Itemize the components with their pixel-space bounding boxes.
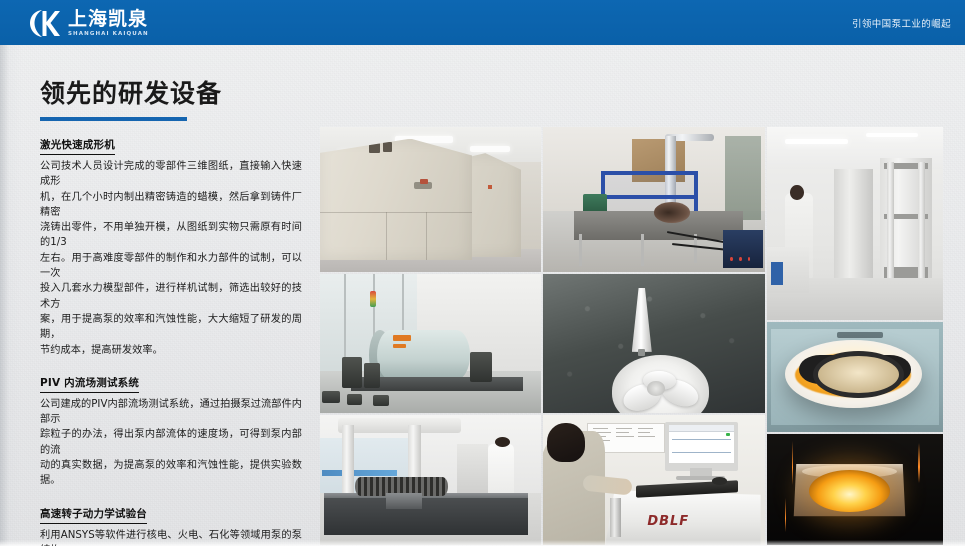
- photo-image: [767, 322, 943, 432]
- section-rotor-dynamics-bench: 高速转子动力学试验台 利用ANSYS等软件进行核电、火电、石化等领域用泵的泵结构…: [40, 502, 302, 546]
- photo-image: [320, 415, 541, 545]
- section-body: 利用ANSYS等软件进行核电、火电、石化等领域用泵的泵结构 三维构造、强度和刚度…: [40, 528, 302, 546]
- logo-text-cn: 上海凯泉: [68, 9, 149, 29]
- section-body: 公司建成的PIV内部流场测试系统，通过拍摄泵过流部件内部示 踪粒子的办法，得出泵…: [40, 397, 302, 489]
- photo-image: [320, 127, 541, 272]
- photo-image: [543, 274, 765, 413]
- body-line: 投入几套水力模型部件，进行样机试制，筛选出较好的技术方: [40, 281, 302, 312]
- photo-spectrometer-operator-dblf[interactable]: DBLF: [543, 415, 765, 545]
- device-brand-mark: DBLF: [647, 514, 689, 529]
- body-line: 左右。用于高难度零部件的制作和水力部件的试制，可以一次: [40, 251, 302, 282]
- page-title: 领先的研发设备: [40, 79, 302, 109]
- photo-glowing-ring-mould[interactable]: [767, 322, 943, 432]
- section-heading: 激光快速成形机: [40, 138, 115, 155]
- title-underline-rule: [40, 117, 187, 121]
- brand-logo[interactable]: 上海凯泉 SHANGHAI KAIQUAN: [28, 6, 149, 40]
- body-line: 公司建成的PIV内部流场测试系统，通过拍摄泵过流部件内部示: [40, 397, 302, 428]
- body-line: 动的真实数据，为提高泵的效率和汽蚀性能，提供实验数据。: [40, 458, 302, 489]
- photo-piv-flow-test-rig[interactable]: [543, 127, 765, 272]
- photo-rotor-dynamics-test-bench[interactable]: [320, 274, 541, 413]
- photo-image: [767, 127, 943, 320]
- section-heading: PIV 内流场测试系统: [40, 376, 139, 393]
- equipment-photo-grid: DBLF: [320, 127, 943, 545]
- photo-glowing-mould-in-furnace[interactable]: [767, 434, 943, 545]
- logo-text-en: SHANGHAI KAIQUAN: [68, 30, 149, 38]
- instrument-box: [723, 230, 763, 268]
- section-laser-rapid-prototyping: 激光快速成形机 公司技术人员设计完成的零部件三维图纸，直接输入快速成形 机，在几…: [40, 133, 302, 358]
- body-line: 公司技术人员设计完成的零部件三维图纸，直接输入快速成形: [40, 159, 302, 190]
- section-heading: 高速转子动力学试验台: [40, 507, 147, 524]
- section-piv-flow-field: PIV 内流场测试系统 公司建成的PIV内部流场测试系统，通过拍摄泵过流部件内部…: [40, 371, 302, 489]
- slide-canvas: 领先的研发设备 激光快速成形机 公司技术人员设计完成的零部件三维图纸，直接输入快…: [0, 45, 965, 546]
- header-slogan: 引领中国泵工业的崛起: [852, 0, 951, 45]
- body-line: 踪粒子的办法，得出泵内部流体的速度场，可得到泵内部的流: [40, 427, 302, 458]
- section-body: 公司技术人员设计完成的零部件三维图纸，直接输入快速成形 机，在几个小时内制出精密…: [40, 159, 302, 358]
- photo-laser-rapid-prototyping-machine[interactable]: [320, 127, 541, 272]
- slide-page: 上海凯泉 SHANGHAI KAIQUAN 引领中国泵工业的崛起 领先的研发设备…: [0, 0, 965, 546]
- photo-image: [320, 274, 541, 413]
- body-line: 机，在几个小时内制出精密铸造的蜡模，然后拿到铸件厂精密: [40, 190, 302, 221]
- body-line: 利用ANSYS等软件进行核电、火电、石化等领域用泵的泵结构: [40, 528, 302, 546]
- photo-tensile-testing-machines[interactable]: [767, 127, 943, 320]
- body-line: 节约成本，提高研发效率。: [40, 343, 302, 358]
- photo-image: [543, 127, 765, 272]
- page-header: 上海凯泉 SHANGHAI KAIQUAN 引领中国泵工业的崛起: [0, 0, 965, 45]
- photo-image: [767, 434, 943, 545]
- photo-cmm-probe-impeller[interactable]: [543, 274, 765, 413]
- photo-cmm-granite-table-inspection[interactable]: [320, 415, 541, 545]
- kaiquan-k-monogram-icon: [28, 7, 62, 39]
- body-line: 案，用于提高泵的效率和汽蚀性能，大大缩短了研发的周期，: [40, 312, 302, 343]
- photo-image: DBLF: [543, 415, 765, 545]
- body-line: 浇铸出零件，不用单独开模，从图纸到实物只需原有时间的1/3: [40, 220, 302, 251]
- content-text-column: 领先的研发设备 激光快速成形机 公司技术人员设计完成的零部件三维图纸，直接输入快…: [40, 79, 302, 546]
